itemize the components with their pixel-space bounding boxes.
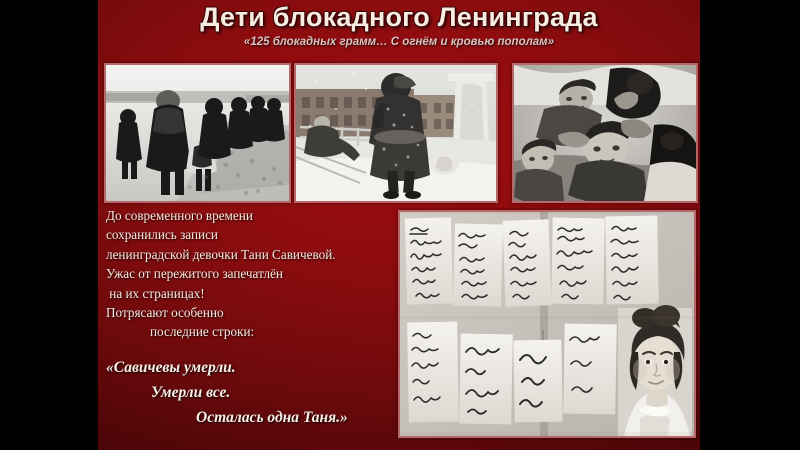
slide-root: Дети блокадного Ленинграда «125 блокадны… xyxy=(0,0,800,450)
narrative-line: на их страницах! xyxy=(106,284,396,303)
title-block: Дети блокадного Ленинграда «125 блокадны… xyxy=(98,2,700,49)
narrative-line: Ужас от пережитого запечатлён xyxy=(106,264,396,283)
savicheva-quote: «Савичевы умерли. Умерли все. Осталась о… xyxy=(106,355,436,430)
narrative-line: ленинградской девочки Тани Савичевой. xyxy=(106,245,396,264)
narrative-line: Потрясают особенно xyxy=(106,303,396,322)
photo-evacuation-image xyxy=(106,65,289,201)
page-title: Дети блокадного Ленинграда xyxy=(98,2,700,32)
narrative-text: До современного времени сохранились запи… xyxy=(106,206,396,342)
narrative-line: сохранились записи xyxy=(106,225,396,244)
diary-photo-image xyxy=(400,212,694,436)
photo-children-image xyxy=(514,65,696,201)
photo-water-image xyxy=(296,65,496,201)
letterbox-left xyxy=(0,0,98,450)
photo-children xyxy=(512,63,698,203)
slide-stage: Дети блокадного Ленинграда «125 блокадны… xyxy=(98,0,700,450)
photo-water xyxy=(294,63,498,203)
tanya-portrait xyxy=(618,305,692,436)
quote-line: «Савичевы умерли. xyxy=(106,355,436,380)
narrative-line: последние строки: xyxy=(106,322,396,341)
quote-line: Осталась одна Таня.» xyxy=(106,405,436,430)
photo-evacuation xyxy=(104,63,291,203)
quote-line: Умерли все. xyxy=(106,380,436,405)
narrative-line: До современного времени xyxy=(106,206,396,225)
page-subtitle: «125 блокадных грамм… С огнём и кровью п… xyxy=(98,35,700,49)
diary-photo xyxy=(398,210,696,438)
letterbox-right xyxy=(700,0,800,450)
